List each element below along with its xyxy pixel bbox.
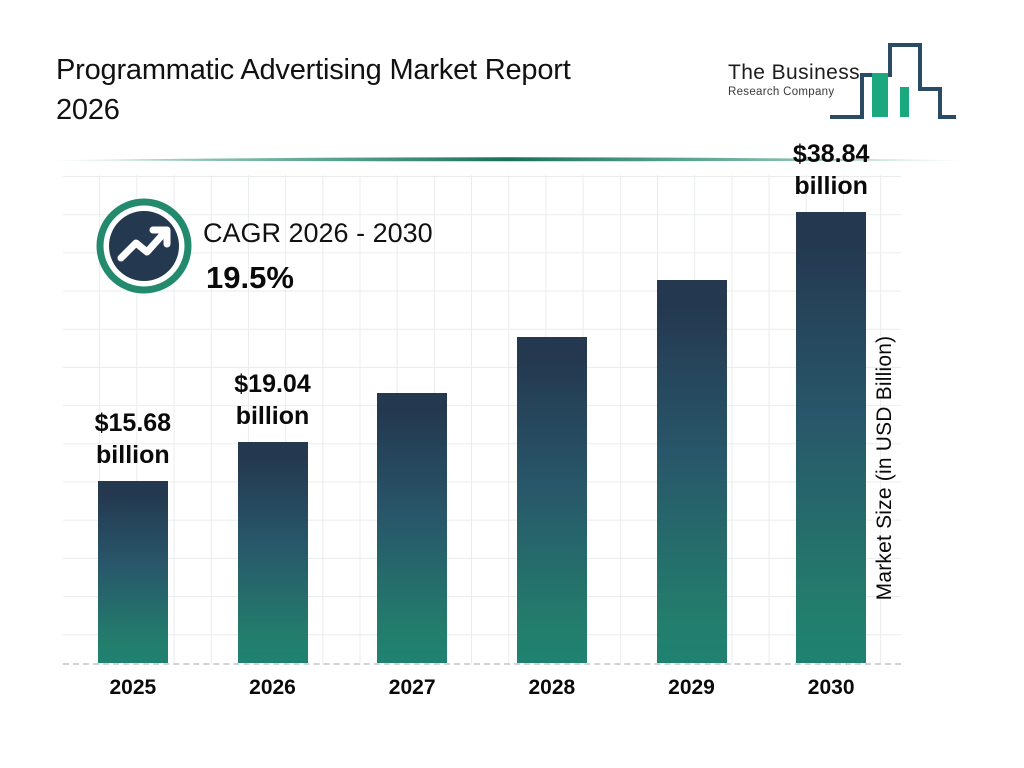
cagr-badge: CAGR 2026 - 2030 19.5% [96,198,516,302]
bar-2029 [657,280,727,663]
bar-chart-skyline-logo-icon [828,33,958,130]
x-tick-2026: 2026 [213,676,333,700]
cagr-value: 19.5% [206,260,294,296]
x-tick-2029: 2029 [632,676,752,700]
bar-value-label-2030: $38.84 billion [746,138,916,202]
x-tick-2025: 2025 [73,676,193,700]
chart-x-axis: 202520262027202820292030 [63,676,901,712]
bar-2026 [238,442,308,663]
x-tick-2030: 2030 [771,676,891,700]
page-title: Programmatic Advertising Market Report 2… [56,50,696,130]
company-logo: The Business Research Company [728,33,968,125]
chart-y-axis-title: Market Size (in USD Billion) [873,268,913,668]
header: Programmatic Advertising Market Report 2… [0,0,1024,150]
x-tick-2028: 2028 [492,676,612,700]
bar-2028 [517,337,587,663]
trending-up-icon [96,198,192,299]
bar-2027 [377,393,447,663]
bar-2030 [796,212,866,663]
bar-value-label-2026: $19.04 billion [188,368,358,432]
x-tick-2027: 2027 [352,676,472,700]
bar-2025 [98,481,168,663]
cagr-range-label: CAGR 2026 - 2030 [203,218,433,249]
